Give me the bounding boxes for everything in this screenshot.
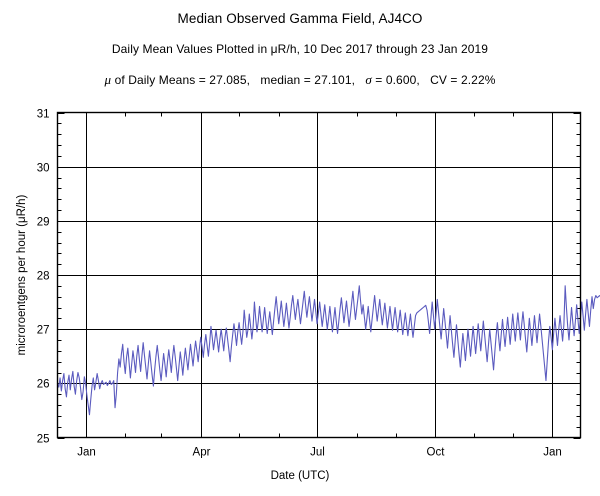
x-axis-label: Date (UTC) [0,470,600,482]
svg-text:Jul: Jul [310,447,325,459]
svg-text:Jan: Jan [543,447,562,459]
svg-text:27: 27 [37,325,50,337]
svg-text:28: 28 [37,271,50,283]
gamma-field-chart-figure: Median Observed Gamma Field, AJ4CO Daily… [0,0,600,496]
svg-text:25: 25 [37,434,50,446]
y-axis-label: microroentgens per hour (μR/h) [16,195,28,356]
svg-text:Jan: Jan [77,447,96,459]
svg-text:Apr: Apr [193,447,211,459]
grid-lines [58,113,581,438]
svg-text:29: 29 [37,217,50,229]
svg-text:Oct: Oct [427,447,446,459]
svg-text:26: 26 [37,379,50,391]
data-series-line [58,253,600,414]
plot-area: 25262728293031JanAprJulOctJan [0,0,600,496]
svg-text:31: 31 [37,109,50,121]
svg-text:30: 30 [37,163,50,175]
